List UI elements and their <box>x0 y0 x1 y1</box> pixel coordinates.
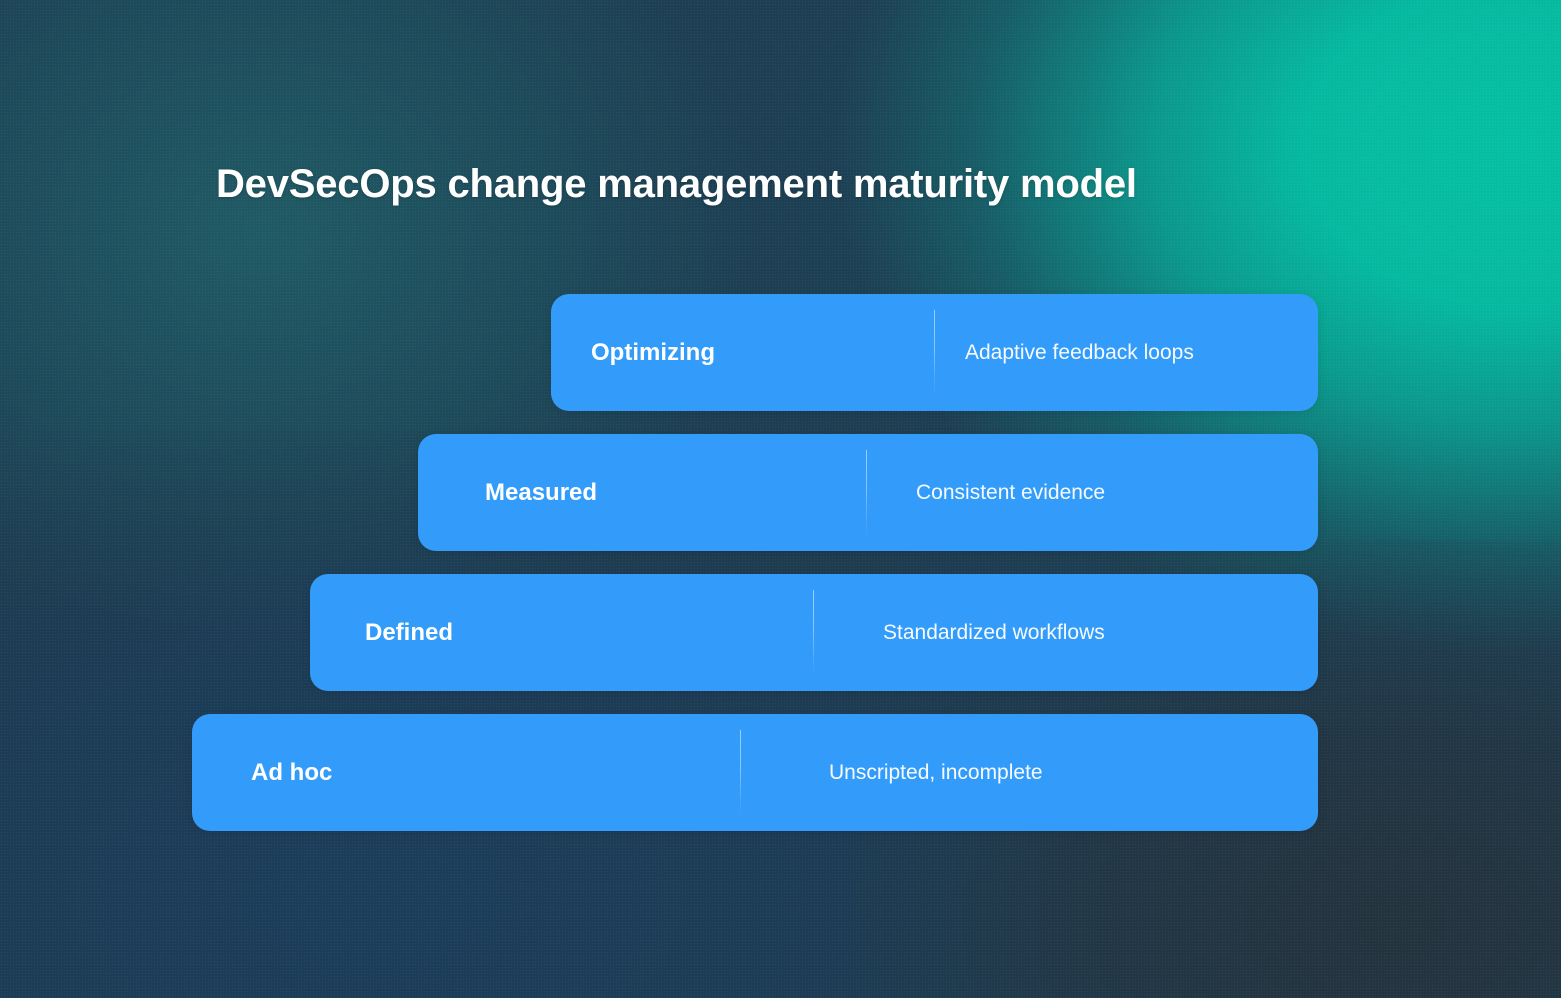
maturity-level-label: Optimizing <box>591 339 715 367</box>
maturity-level-list: OptimizingAdaptive feedback loopsMeasure… <box>0 0 1561 998</box>
maturity-level-description: Standardized workflows <box>883 621 1105 645</box>
bar-divider-line <box>813 590 814 676</box>
maturity-level-bar[interactable]: OptimizingAdaptive feedback loops <box>551 294 1318 411</box>
maturity-level-bar[interactable]: DefinedStandardized workflows <box>310 574 1318 691</box>
maturity-level-description: Unscripted, incomplete <box>829 761 1043 785</box>
maturity-level-description: Consistent evidence <box>916 481 1105 505</box>
bar-divider-line <box>866 450 867 536</box>
maturity-level-bar[interactable]: MeasuredConsistent evidence <box>418 434 1318 551</box>
maturity-level-description: Adaptive feedback loops <box>965 341 1194 365</box>
maturity-level-label: Measured <box>485 479 597 507</box>
maturity-model-diagram: DevSecOps change management maturity mod… <box>0 0 1561 998</box>
bar-divider-line <box>934 310 935 396</box>
maturity-level-label: Defined <box>365 619 453 647</box>
bar-divider-line <box>740 730 741 816</box>
maturity-level-bar[interactable]: Ad hocUnscripted, incomplete <box>192 714 1318 831</box>
maturity-level-label: Ad hoc <box>251 759 332 787</box>
